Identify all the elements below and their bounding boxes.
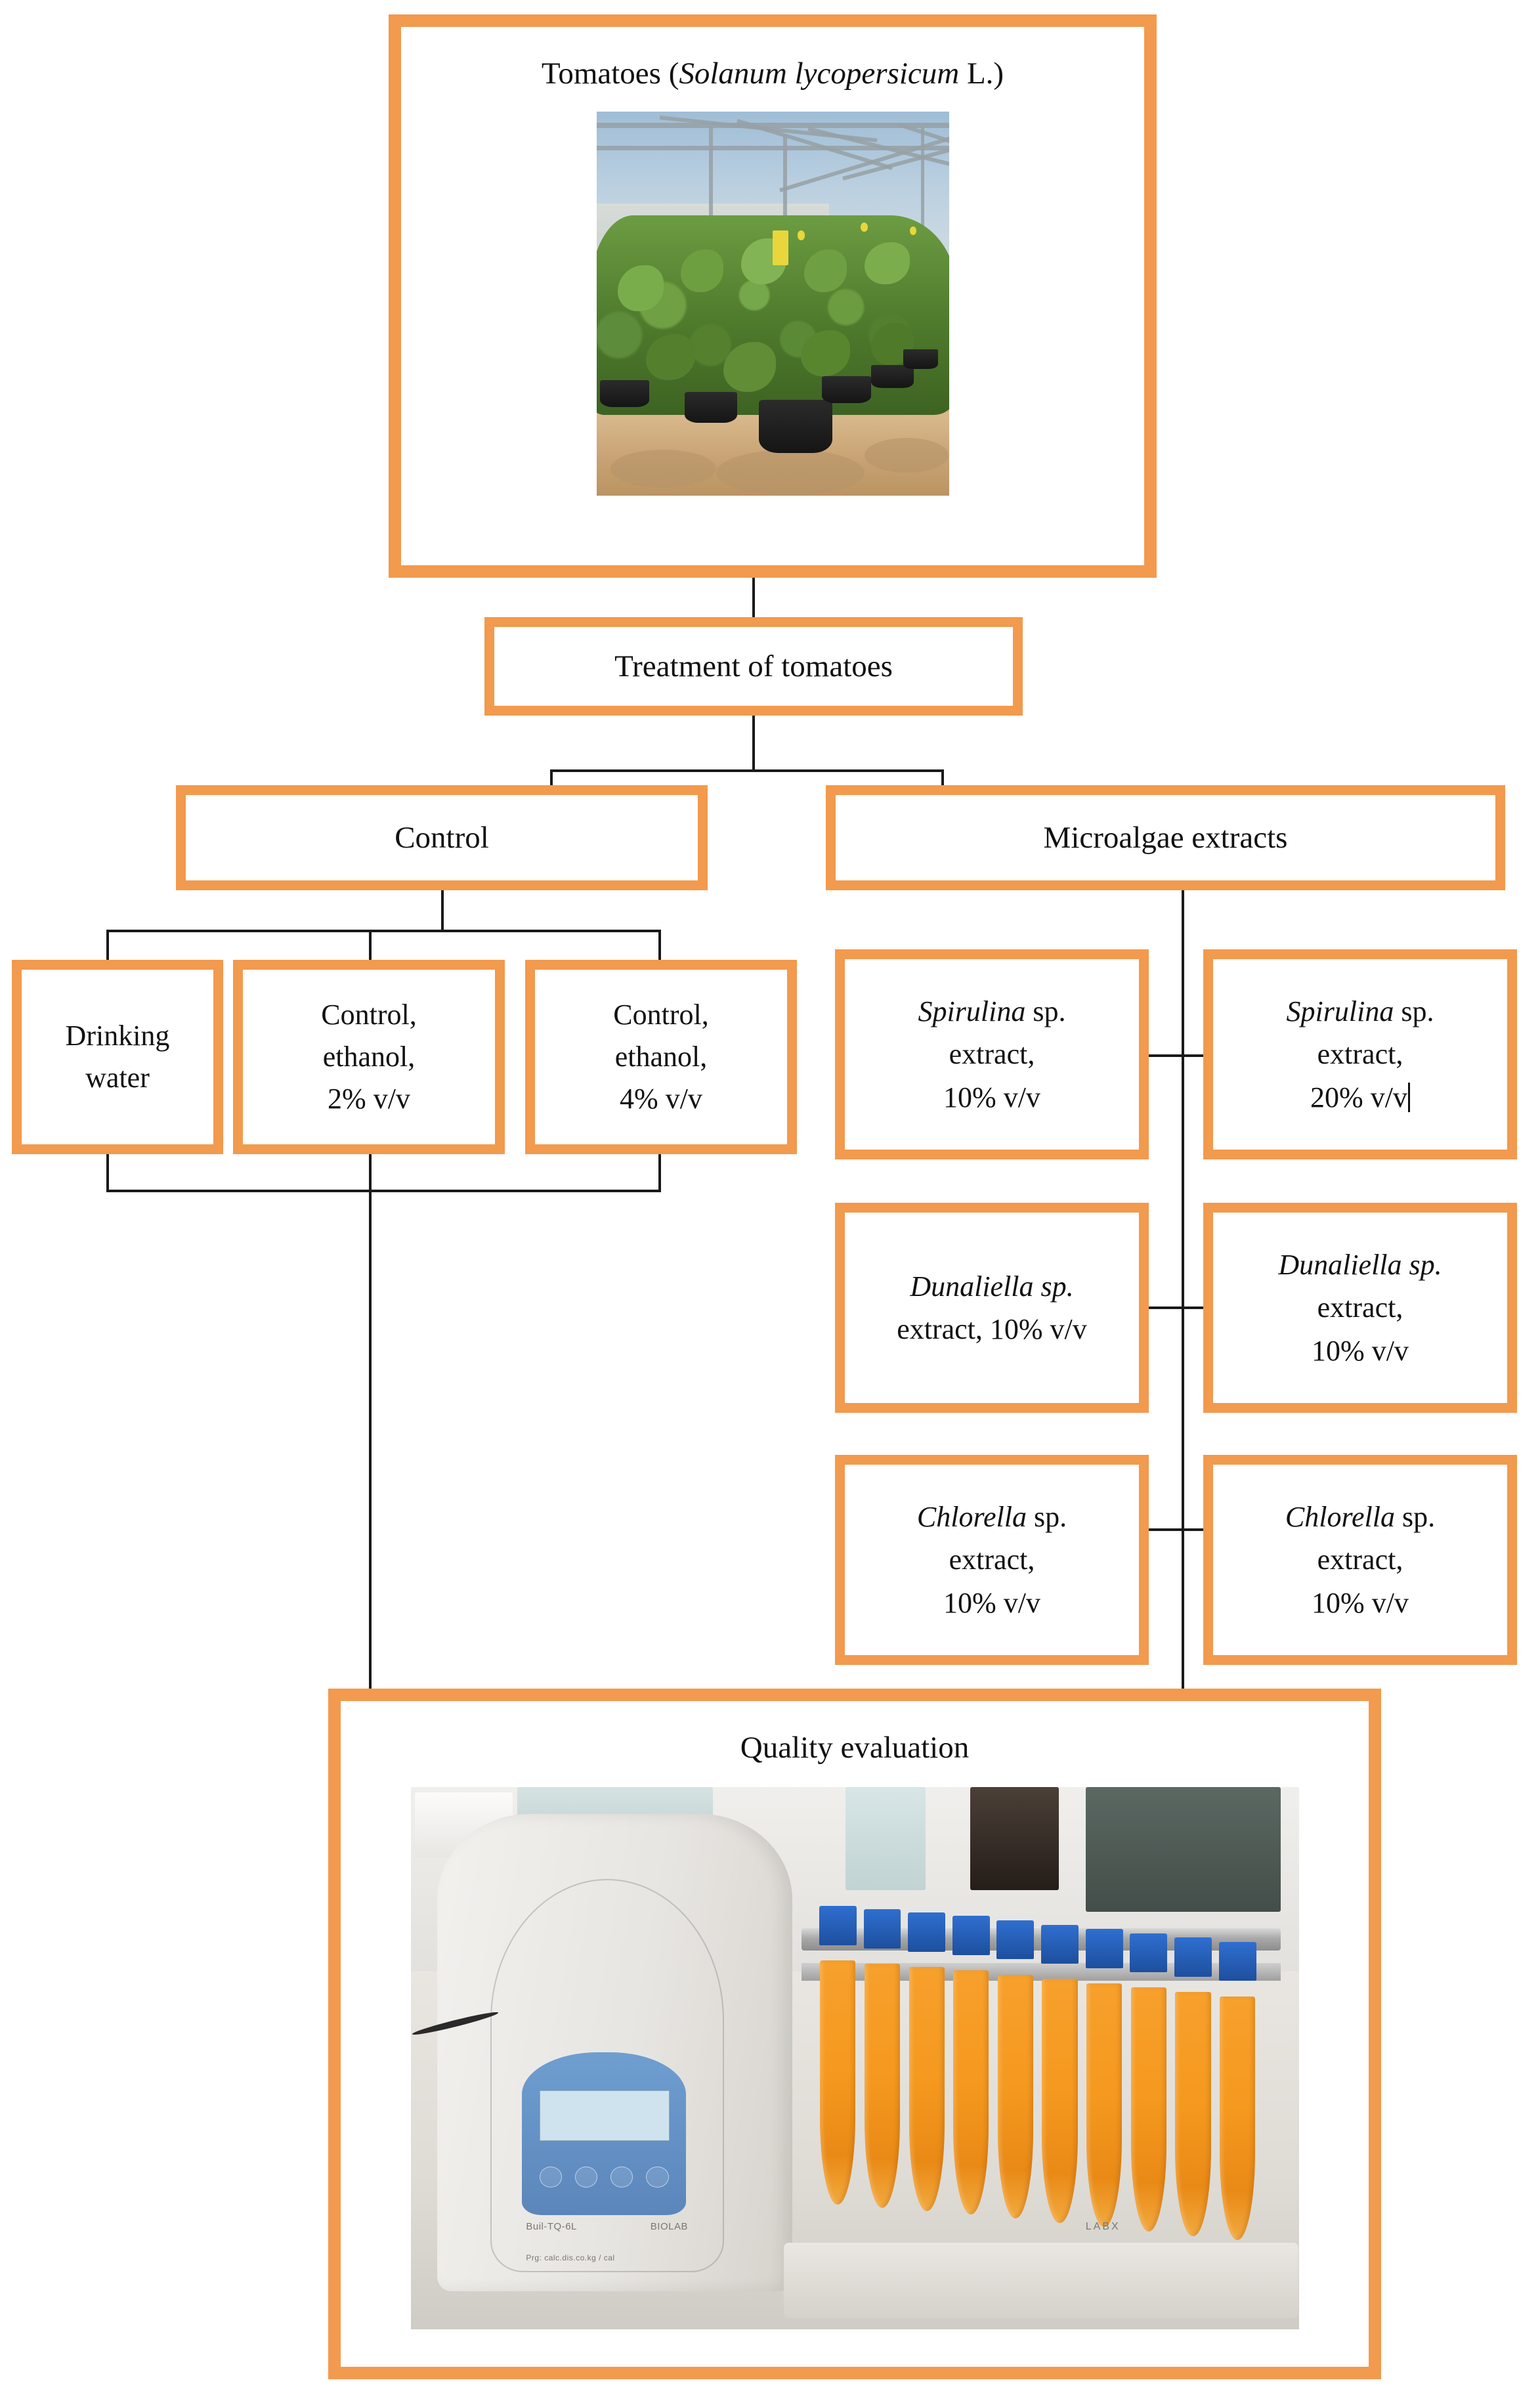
node-microalgae-label: Microalgae extracts xyxy=(836,819,1495,857)
node-control-ethanol-2-label: Control, ethanol, 2% v/v xyxy=(252,994,486,1119)
node-chlorella-extract-10-right: Chlorella sp. extract, 10% v/v xyxy=(1203,1455,1517,1665)
dunaliella-10-left-line-2: extract, 10% v/v xyxy=(858,1308,1126,1350)
node-control-ethanol-4: Control, ethanol, 4% v/v xyxy=(525,960,797,1154)
spirulina-10-line-2: extract, xyxy=(858,1033,1126,1075)
control-ethanol-2-line-3: 2% v/v xyxy=(252,1078,486,1120)
connector-control-to-quality xyxy=(369,1190,372,1691)
connector-ethanol-2-down xyxy=(369,1154,372,1191)
connector-to-drinking-water xyxy=(106,930,109,961)
node-chlorella-extract-10-left: Chlorella sp. extract, 10% v/v xyxy=(835,1455,1149,1665)
chlorella-10-left-line-1: Chlorella sp. xyxy=(858,1496,1126,1538)
connector-drinking-water-down xyxy=(106,1154,109,1191)
node-dunaliella-10-right-label: Dunaliella sp. extract, 10% v/v xyxy=(1226,1243,1494,1371)
dunaliella-10-left-line-1: Dunaliella sp. xyxy=(858,1265,1126,1308)
node-spirulina-extract-20: Spirulina sp. extract, 20% v/v xyxy=(1203,949,1517,1159)
node-chlorella-10-left-label: Chlorella sp. extract, 10% v/v xyxy=(858,1496,1126,1624)
node-drinking-water-label: Drinking water xyxy=(31,1015,204,1099)
control-ethanol-2-line-2: ethanol, xyxy=(252,1036,486,1078)
lab-centrifuge-tubes-photo: Buil-TQ-6L BIOLAB Prg: calc.dis.co.kg / … xyxy=(411,1787,1299,2329)
connector-treatment-stem xyxy=(752,716,755,771)
node-tomatoes: Tomatoes (Solanum lycopersicum L.) xyxy=(389,14,1157,578)
control-ethanol-2-line-1: Control, xyxy=(252,994,486,1036)
node-drinking-water: Drinking water xyxy=(12,960,223,1154)
node-spirulina-20-label: Spirulina sp. extract, 20% v/v xyxy=(1226,990,1494,1118)
tomatoes-label-prefix: Tomatoes ( xyxy=(542,56,679,91)
flowchart-canvas: Tomatoes (Solanum lycopersicum L.) xyxy=(0,0,1540,2395)
connector-to-ethanol-2 xyxy=(369,930,372,961)
text-cursor-caret xyxy=(1408,1083,1410,1112)
control-ethanol-4-line-1: Control, xyxy=(544,994,778,1036)
dunaliella-10-right-line-3: 10% v/v xyxy=(1226,1329,1494,1372)
connector-treatment-split-bar xyxy=(550,769,944,772)
connector-ethanol-4-down xyxy=(658,1154,661,1191)
node-chlorella-10-right-label: Chlorella sp. extract, 10% v/v xyxy=(1226,1496,1494,1624)
control-ethanol-4-line-3: 4% v/v xyxy=(544,1078,778,1120)
chlorella-10-left-line-2: extract, xyxy=(858,1538,1126,1581)
node-tomatoes-label: Tomatoes (Solanum lycopersicum L.) xyxy=(401,54,1144,93)
node-control: Control xyxy=(176,785,708,890)
tomatoes-species-name: Solanum lycopersicum xyxy=(679,56,959,91)
spirulina-20-line-2: extract, xyxy=(1226,1033,1494,1075)
node-control-ethanol-4-label: Control, ethanol, 4% v/v xyxy=(544,994,778,1119)
chlorella-10-left-line-3: 10% v/v xyxy=(858,1582,1126,1624)
node-treatment-of-tomatoes: Treatment of tomatoes xyxy=(484,617,1023,716)
spirulina-20-line-3: 20% v/v xyxy=(1226,1076,1494,1119)
node-control-label: Control xyxy=(186,819,698,857)
connector-control-split-bar xyxy=(106,930,661,932)
chlorella-10-right-line-3: 10% v/v xyxy=(1226,1582,1494,1624)
connector-microalgae-spine xyxy=(1182,890,1184,1693)
node-control-ethanol-2: Control, ethanol, 2% v/v xyxy=(233,960,505,1154)
node-quality-evaluation-label: Quality evaluation xyxy=(341,1729,1369,1767)
connector-tomatoes-to-treatment xyxy=(752,578,755,618)
tomatoes-label-suffix: L.) xyxy=(959,56,1004,91)
control-ethanol-4-line-2: ethanol, xyxy=(544,1036,778,1078)
node-quality-evaluation: Quality evaluation B xyxy=(328,1689,1381,2379)
node-microalgae-extracts: Microalgae extracts xyxy=(826,785,1505,890)
greenhouse-tomato-plants-photo xyxy=(597,112,949,496)
connector-control-stem xyxy=(441,890,444,931)
drinking-water-line-2: water xyxy=(31,1057,204,1099)
chlorella-10-right-line-1: Chlorella sp. xyxy=(1226,1496,1494,1538)
node-dunaliella-10-left-label: Dunaliella sp. extract, 10% v/v xyxy=(858,1265,1126,1350)
spirulina-10-line-3: 10% v/v xyxy=(858,1076,1126,1119)
node-dunaliella-extract-10-right: Dunaliella sp. extract, 10% v/v xyxy=(1203,1203,1517,1413)
connector-control-merge-bar xyxy=(106,1190,661,1192)
connector-to-ethanol-4 xyxy=(658,930,661,961)
node-spirulina-10-label: Spirulina sp. extract, 10% v/v xyxy=(858,990,1126,1118)
dunaliella-10-right-line-2: extract, xyxy=(1226,1286,1494,1329)
spirulina-20-line-1: Spirulina sp. xyxy=(1226,990,1494,1033)
dunaliella-10-right-line-1: Dunaliella sp. xyxy=(1226,1243,1494,1286)
spirulina-10-line-1: Spirulina sp. xyxy=(858,990,1126,1033)
node-dunaliella-extract-10-left: Dunaliella sp. extract, 10% v/v xyxy=(835,1203,1149,1413)
drinking-water-line-1: Drinking xyxy=(31,1015,204,1057)
node-treatment-label: Treatment of tomatoes xyxy=(494,647,1013,686)
chlorella-10-right-line-2: extract, xyxy=(1226,1538,1494,1581)
node-spirulina-extract-10: Spirulina sp. extract, 10% v/v xyxy=(835,949,1149,1159)
